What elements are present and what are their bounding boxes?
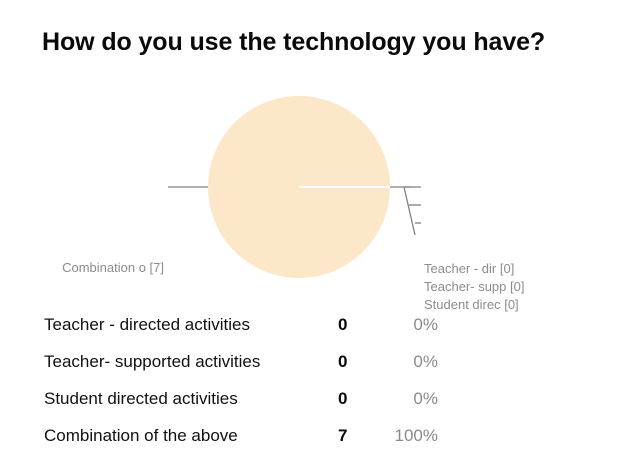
leader-line-spine	[404, 187, 415, 235]
pie-callout-student-directed: Student direc [0]	[424, 298, 519, 311]
row-percent: 0%	[352, 389, 438, 409]
legend-table: Teacher - directed activities 0 0% Teach…	[0, 312, 620, 460]
row-count: 0	[338, 389, 347, 409]
row-label: Combination of the above	[44, 426, 238, 446]
table-row: Teacher- supported activities 0 0%	[0, 349, 620, 386]
row-label: Student directed activities	[44, 389, 238, 409]
page-title: How do you use the technology you have?	[42, 28, 602, 57]
pie-chart: Combination o [7] Teacher - dir [0] Teac…	[0, 80, 620, 295]
slide-canvas: How do you use the technology you have? …	[0, 0, 620, 472]
row-count: 0	[338, 315, 347, 335]
row-percent: 0%	[352, 315, 438, 335]
pie-callout-combination: Combination o [7]	[62, 261, 164, 274]
row-label: Teacher- supported activities	[44, 352, 260, 372]
table-row: Combination of the above 7 100%	[0, 423, 620, 460]
row-count: 7	[338, 426, 347, 446]
row-percent: 100%	[352, 426, 438, 446]
table-row: Teacher - directed activities 0 0%	[0, 312, 620, 349]
row-count: 0	[338, 352, 347, 372]
row-label: Teacher - directed activities	[44, 315, 250, 335]
row-percent: 0%	[352, 352, 438, 372]
table-row: Student directed activities 0 0%	[0, 386, 620, 423]
pie-callout-teacher-supported: Teacher- supp [0]	[424, 280, 524, 293]
pie-callout-teacher-directed: Teacher - dir [0]	[424, 262, 514, 275]
